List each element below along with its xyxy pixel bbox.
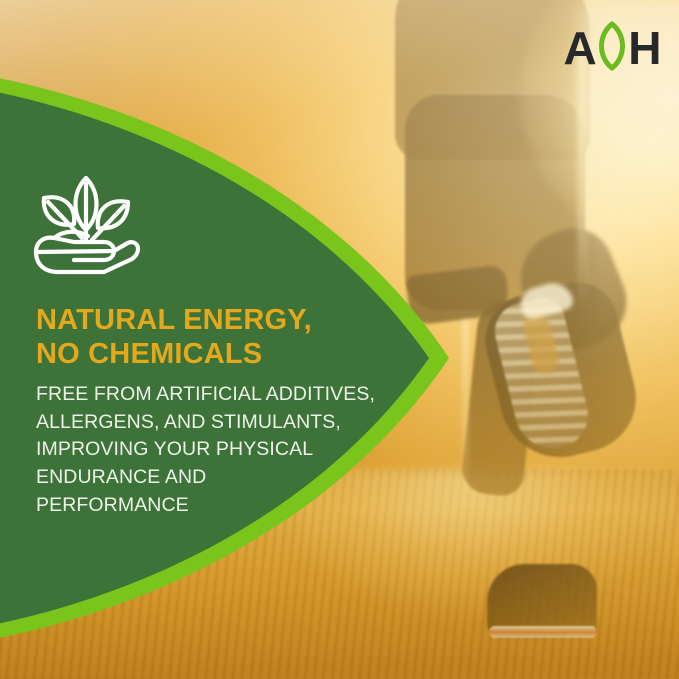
body-copy-line-4: ENDURANCE AND [36, 464, 381, 492]
body-copy-line-3: IMPROVING YOUR PHYSICAL [36, 436, 381, 464]
body-copy-line-2: ALLERGENS, AND STIMULANTS, [36, 409, 381, 437]
hand-holding-leaves-icon [30, 168, 142, 276]
panel-content: NATURAL ENERGY, NO CHEMICALS FREE FROM A… [0, 0, 400, 679]
headline-line-1: NATURAL ENERGY, [36, 304, 366, 338]
body-copy: FREE FROM ARTIFICIAL ADDITIVES, ALLERGEN… [36, 381, 381, 519]
leaf-icon [596, 21, 628, 76]
brand-logo: A H [564, 20, 661, 76]
brand-letter-h: H [628, 25, 661, 71]
body-copy-line-1: FREE FROM ARTIFICIAL ADDITIVES, [36, 381, 381, 409]
body-copy-line-5: PERFORMANCE [36, 492, 381, 520]
headline-line-2: NO CHEMICALS [36, 338, 366, 372]
brand-letter-a: A [564, 25, 597, 71]
headline: NATURAL ENERGY, NO CHEMICALS [36, 304, 366, 371]
advertisement-banner: NATURAL ENERGY, NO CHEMICALS FREE FROM A… [0, 0, 679, 679]
